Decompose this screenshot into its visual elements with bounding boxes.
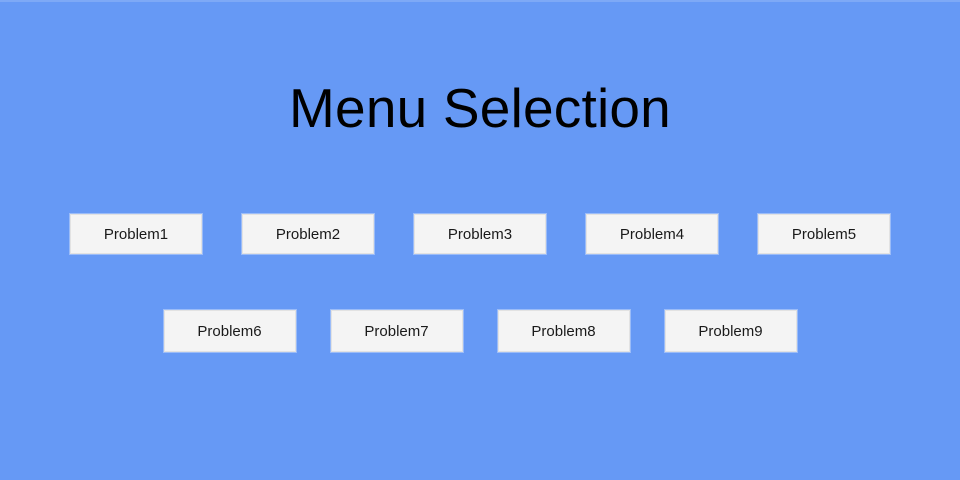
problem-button-1[interactable]: Problem1 <box>70 214 202 254</box>
problem-button-2[interactable]: Problem2 <box>242 214 374 254</box>
problem-button-7[interactable]: Problem7 <box>331 310 463 352</box>
menu-row-1: Problem1 Problem2 Problem3 Problem4 Prob… <box>0 214 960 254</box>
problem-button-3[interactable]: Problem3 <box>414 214 546 254</box>
menu-row-2: Problem6 Problem7 Problem8 Problem9 <box>0 310 960 352</box>
problem-button-5[interactable]: Problem5 <box>758 214 890 254</box>
problem-button-8[interactable]: Problem8 <box>498 310 630 352</box>
menu-selection-screen: Menu Selection Problem1 Problem2 Problem… <box>0 0 960 480</box>
menu-button-grid: Problem1 Problem2 Problem3 Problem4 Prob… <box>0 214 960 352</box>
problem-button-6[interactable]: Problem6 <box>164 310 296 352</box>
page-title: Menu Selection <box>0 78 960 138</box>
problem-button-9[interactable]: Problem9 <box>665 310 797 352</box>
problem-button-4[interactable]: Problem4 <box>586 214 718 254</box>
